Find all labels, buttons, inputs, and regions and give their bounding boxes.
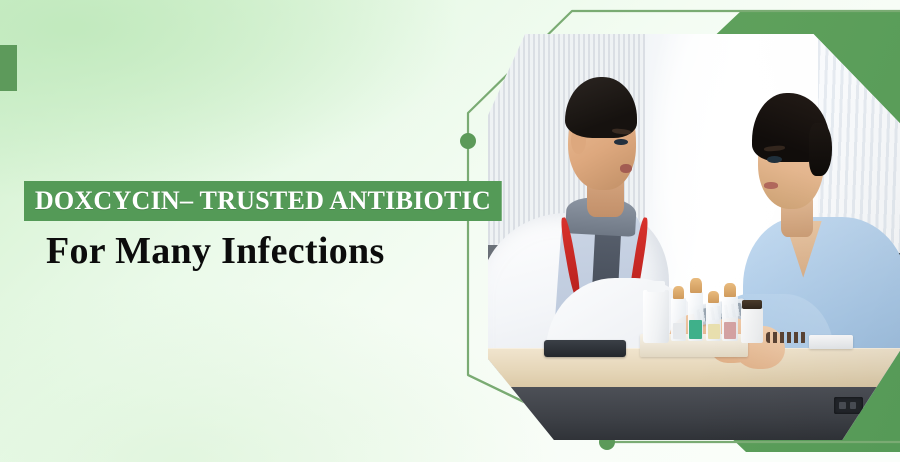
dark-medicine-jar (741, 308, 762, 343)
medicine-vial (706, 302, 721, 341)
medicine-vial (671, 298, 686, 341)
doctor-eye (614, 139, 628, 145)
subheadline-text: For Many Infections (46, 232, 454, 270)
left-edge-green-tab (0, 45, 17, 91)
medicine-vial (688, 292, 704, 341)
desk-power-socket (834, 397, 863, 413)
headline-block: DOXCYCIN– TRUSTED ANTIBIOTIC For Many In… (24, 181, 454, 270)
patient-mouth (764, 182, 778, 188)
patient-hair-side (809, 123, 832, 176)
medicine-vial (722, 296, 738, 341)
promo-banner: DOXCYCIN– TRUSTED ANTIBIOTIC For Many In… (0, 0, 900, 462)
doctor-mouth (620, 164, 632, 173)
photo-scene (488, 34, 900, 440)
headline-banner: DOXCYCIN– TRUSTED ANTIBIOTIC (24, 181, 502, 221)
white-notepad (809, 335, 852, 349)
medicine-bottle (643, 290, 669, 343)
patient-eye (767, 156, 782, 163)
doctor-patient-photo (488, 34, 900, 440)
dark-tablet-device (544, 340, 626, 357)
loose-pills (766, 332, 807, 343)
